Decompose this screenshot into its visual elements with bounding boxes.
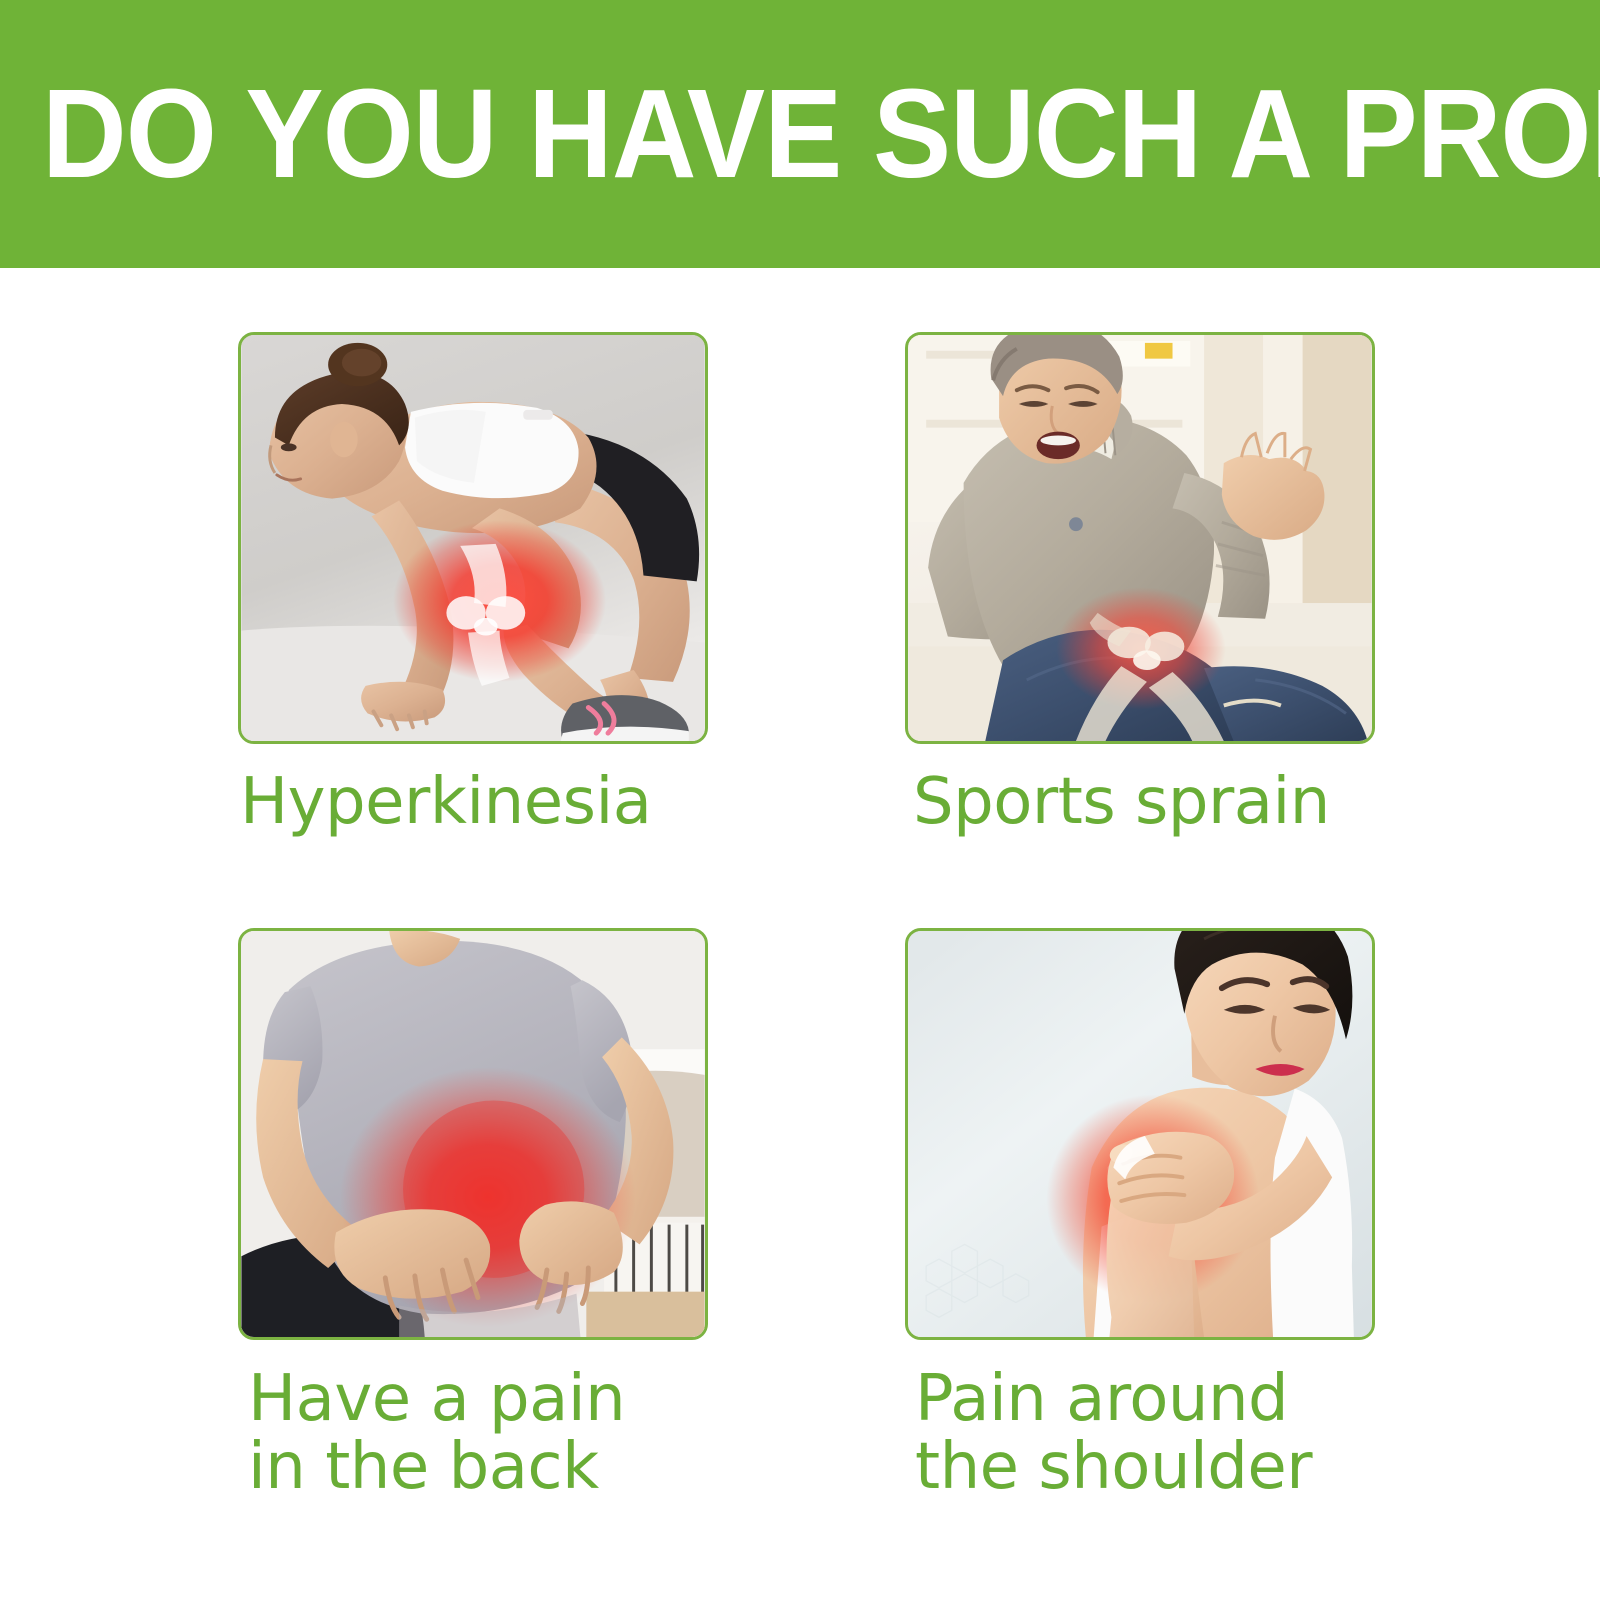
- problem-card-sports-sprain[interactable]: Sports sprain: [867, 332, 1567, 835]
- man-sitting-knee-pain-photo: [908, 335, 1372, 741]
- header-banner: DO YOU HAVE SUCH A PROBLEM?: [0, 0, 1600, 268]
- female-runner-knee-pain-photo: [241, 335, 705, 741]
- problem-card-back-pain[interactable]: Have a pain in the back: [200, 928, 900, 1502]
- image-frame: [905, 928, 1375, 1340]
- card-caption: Sports sprain: [913, 770, 1473, 835]
- promo-page: DO YOU HAVE SUCH A PROBLEM?: [0, 0, 1600, 1600]
- image-frame: [238, 928, 708, 1340]
- woman-shoulder-pain-photo: [908, 931, 1372, 1337]
- page-title: DO YOU HAVE SUCH A PROBLEM?: [42, 71, 1600, 197]
- image-frame: [905, 332, 1375, 744]
- card-caption: Hyperkinesia: [240, 770, 800, 835]
- man-lower-back-pain-photo: [241, 931, 705, 1337]
- image-frame: [238, 332, 708, 744]
- problem-cards-grid: Hyperkinesia: [0, 268, 1600, 1600]
- problem-card-shoulder-pain[interactable]: Pain around the shoulder: [867, 928, 1567, 1502]
- card-caption: Pain around the shoulder: [915, 1366, 1475, 1502]
- problem-card-hyperkinesia[interactable]: Hyperkinesia: [200, 332, 900, 835]
- card-caption: Have a pain in the back: [248, 1366, 808, 1502]
